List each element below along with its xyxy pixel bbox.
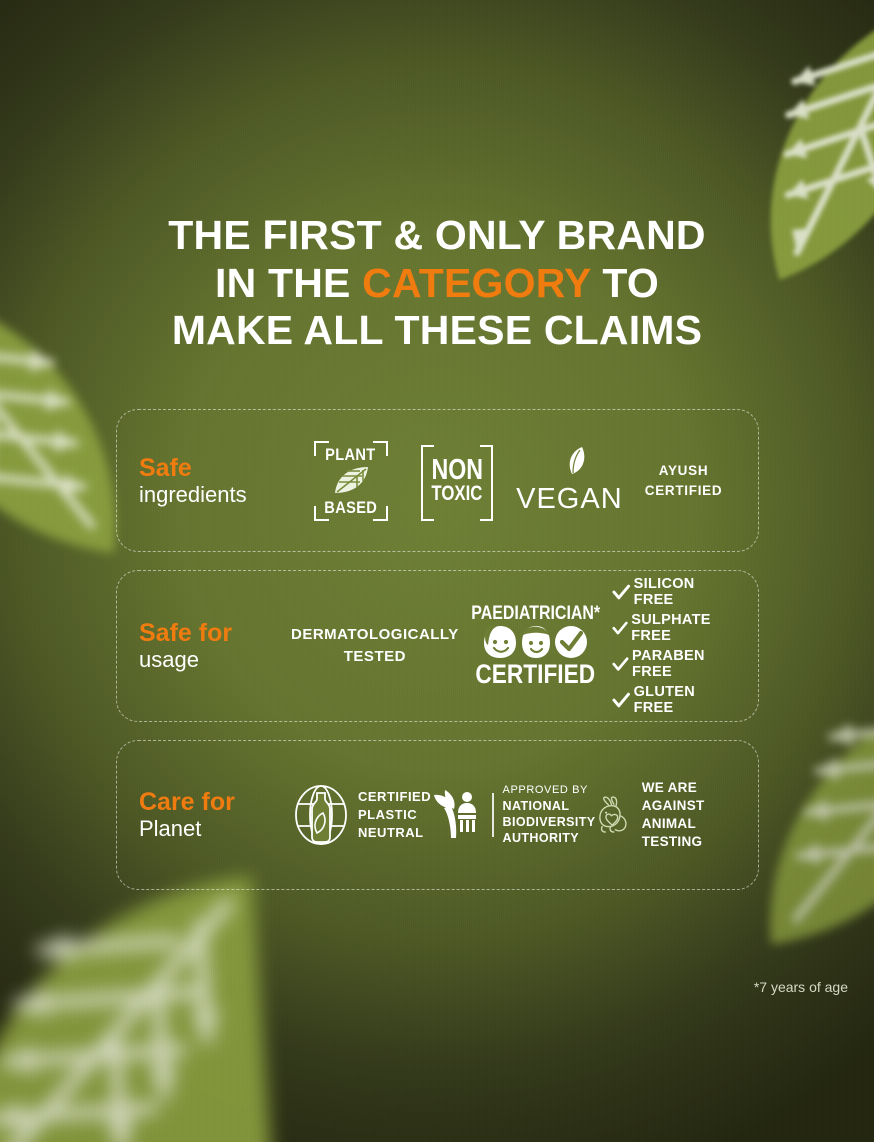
faces-group: [482, 625, 588, 659]
card-title-line-1: Safe for: [139, 619, 289, 647]
check-icon: [612, 584, 631, 601]
leaf-icon: [565, 446, 589, 476]
checklist-label: GLUTEN FREE: [634, 684, 736, 716]
vegan-label: VEGAN: [516, 485, 623, 514]
plastic-line-1: CERTIFIED: [358, 788, 431, 806]
list-item: SULPHATE FREE: [612, 612, 736, 644]
leaf-arrow-vein-icon: [0, 864, 351, 1142]
globe-bottle-icon: [293, 784, 349, 846]
rabbit-heart-icon: [596, 790, 633, 840]
badge-certified-plastic-neutral: CERTIFIED PLASTIC NEUTRAL: [293, 784, 431, 846]
card-title: Safe for usage: [139, 619, 289, 673]
checklist-label: SILICON FREE: [634, 576, 736, 608]
child-face-boy-icon: [520, 625, 552, 659]
list-item: PARABEN FREE: [612, 648, 736, 680]
derm-line-2: TESTED: [291, 646, 459, 669]
page-title: THE FIRST & ONLY BRAND IN THE CATEGORY T…: [0, 212, 874, 355]
nba-line-4: AUTHORITY: [503, 830, 596, 846]
plastic-line-3: NEUTRAL: [358, 824, 431, 842]
claims-card-safe-for-usage: Safe for usage DERMATOLOGICALLY TESTED P…: [116, 570, 759, 722]
claims-card-care-for-planet: Care for Planet CERTIFIED PLASTIC NE: [116, 740, 759, 890]
list-item: SILICON FREE: [612, 576, 736, 608]
check-icon: [612, 692, 630, 709]
decorative-leaf-icon: [0, 864, 351, 1142]
non-toxic-top-label: NON: [431, 457, 483, 484]
ayush-line-2: CERTIFIED: [645, 481, 723, 501]
badge-paediatrician-certified: PAEDIATRICIAN*: [459, 604, 612, 688]
claims-card-safe-ingredients: Safe ingredients PLANT: [116, 409, 759, 552]
nba-line-2: NATIONAL: [503, 798, 596, 814]
leaf-icon: [330, 464, 372, 498]
nba-line-1: APPROVED BY: [503, 783, 596, 797]
non-toxic-bottom-label: TOXIC: [432, 483, 483, 504]
card-title: Care for Planet: [139, 788, 289, 842]
plant-based-top-label: PLANT: [325, 446, 375, 463]
animal-testing-label: WE ARE AGAINST ANIMAL TESTING: [642, 779, 736, 852]
nba-line-3: BIODIVERSITY: [503, 814, 596, 830]
headline-line-2-post: TO: [591, 260, 659, 306]
nba-label: APPROVED BY NATIONAL BIODIVERSITY AUTHOR…: [503, 783, 596, 846]
plastic-neutral-label: CERTIFIED PLASTIC NEUTRAL: [358, 788, 431, 842]
checklist-label: PARABEN FREE: [632, 648, 736, 680]
badge-against-animal-testing: WE ARE AGAINST ANIMAL TESTING: [596, 779, 736, 852]
paediatrician-certified-label: CERTIFIED: [476, 661, 596, 688]
check-circle-icon: [554, 625, 588, 659]
badge-non-toxic: NON TOXIC: [420, 441, 494, 521]
badge-plant-based: PLANT BASED: [309, 439, 393, 523]
animal-line-1: WE ARE AGAINST: [642, 779, 736, 815]
free-from-checklist: SILICON FREE SULPHATE FREE PARABEN FREE …: [612, 576, 736, 716]
card-title-line-2: usage: [139, 647, 289, 673]
child-face-girl-icon: [482, 625, 518, 659]
biodiversity-emblem-icon: [431, 788, 483, 842]
card-title: Safe ingredients: [139, 454, 289, 508]
badge-vegan: VEGAN: [521, 448, 617, 514]
headline-line-3: MAKE ALL THESE CLAIMS: [0, 307, 874, 355]
list-item: GLUTEN FREE: [612, 684, 736, 716]
derm-line-1: DERMATOLOGICALLY: [291, 624, 459, 647]
badge-dermatologically-tested: DERMATOLOGICALLY TESTED: [291, 624, 459, 669]
checklist-label: SULPHATE FREE: [631, 612, 736, 644]
check-icon: [612, 656, 629, 673]
headline-highlight: CATEGORY: [362, 260, 591, 306]
check-icon: [612, 620, 628, 637]
badge-ayush-certified: AYUSH CERTIFIED: [645, 461, 723, 500]
card-title-line-1: Safe: [139, 454, 289, 482]
card-title-line-2: ingredients: [139, 482, 289, 508]
plastic-line-2: PLASTIC: [358, 806, 431, 824]
ayush-line-1: AYUSH: [645, 461, 723, 481]
plant-based-bottom-label: BASED: [324, 499, 377, 516]
badge-national-biodiversity-authority: APPROVED BY NATIONAL BIODIVERSITY AUTHOR…: [431, 783, 595, 846]
card-title-line-2: Planet: [139, 816, 289, 842]
divider: [492, 793, 493, 837]
headline-line-2: IN THE CATEGORY TO: [0, 260, 874, 308]
headline-line-2-pre: IN THE: [215, 260, 362, 306]
paediatrician-label: PAEDIATRICIAN*: [471, 604, 600, 623]
card-title-line-1: Care for: [139, 788, 289, 816]
poster: THE FIRST & ONLY BRAND IN THE CATEGORY T…: [0, 0, 874, 1142]
footnote: *7 years of age: [754, 979, 848, 995]
headline-line-1: THE FIRST & ONLY BRAND: [0, 212, 874, 260]
animal-line-2: ANIMAL TESTING: [642, 815, 736, 851]
